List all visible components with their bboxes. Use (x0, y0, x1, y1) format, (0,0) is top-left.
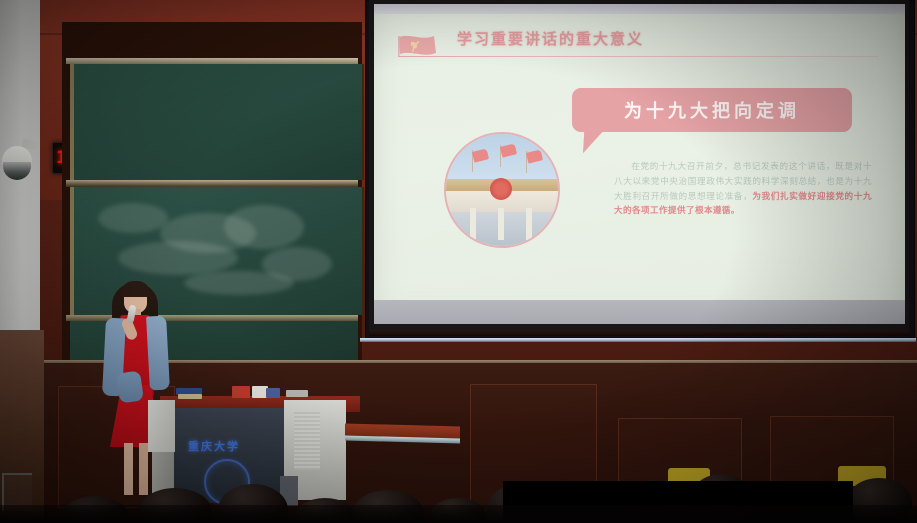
speaker-denim-jacket-right (146, 316, 170, 391)
pa-speaker-column-top (148, 400, 175, 452)
screen-bottom-trim (360, 338, 916, 342)
podium-university-label: 重庆大学 (188, 438, 240, 454)
slide-headline-bubble: 为十九大把向定调 (572, 88, 852, 132)
speaker-leg-right (139, 443, 148, 495)
slide-bottom-band (374, 300, 905, 324)
item-on-podium (286, 390, 308, 397)
speaker-leg-left (124, 443, 133, 495)
national-emblem-icon (490, 178, 512, 200)
slide-top-band (374, 4, 905, 14)
book-on-podium (232, 386, 250, 398)
slide-title: 学习重要讲话的重大意义 (457, 28, 644, 49)
slide-headline-text: 为十九大把向定调 (624, 97, 800, 123)
chalkboard-divider-rail (66, 180, 358, 187)
book-on-podium (266, 388, 280, 398)
tiananmen-gate-photo (444, 132, 560, 248)
slide-body-text: 在党的十九大召开前夕，总书记发表的这个讲话，既是对十八大以来党中央治国理政伟大实… (614, 159, 872, 218)
speaker-jacket-tied-waist (116, 370, 144, 403)
speaker-hair-top (121, 281, 150, 297)
presentation-slide: 学习重要讲话的重大意义 为十九大把向定调 在党的十九大召开前夕，总书记发表 (374, 4, 905, 324)
wainscot-rail (38, 360, 917, 363)
chalkboard-upper-panel (70, 64, 364, 180)
audience-foreground-shadow (0, 505, 917, 523)
party-flag-icon (396, 31, 446, 65)
bubble-tail (580, 131, 604, 153)
book-on-podium (178, 394, 202, 399)
screen-bottom-shadow (369, 330, 909, 336)
lecture-hall-scene: 15:24 学习重要讲话的重大意义 为十九大 (0, 0, 917, 523)
slide-title-rule (398, 56, 878, 57)
podium-vent-grille (294, 412, 320, 470)
